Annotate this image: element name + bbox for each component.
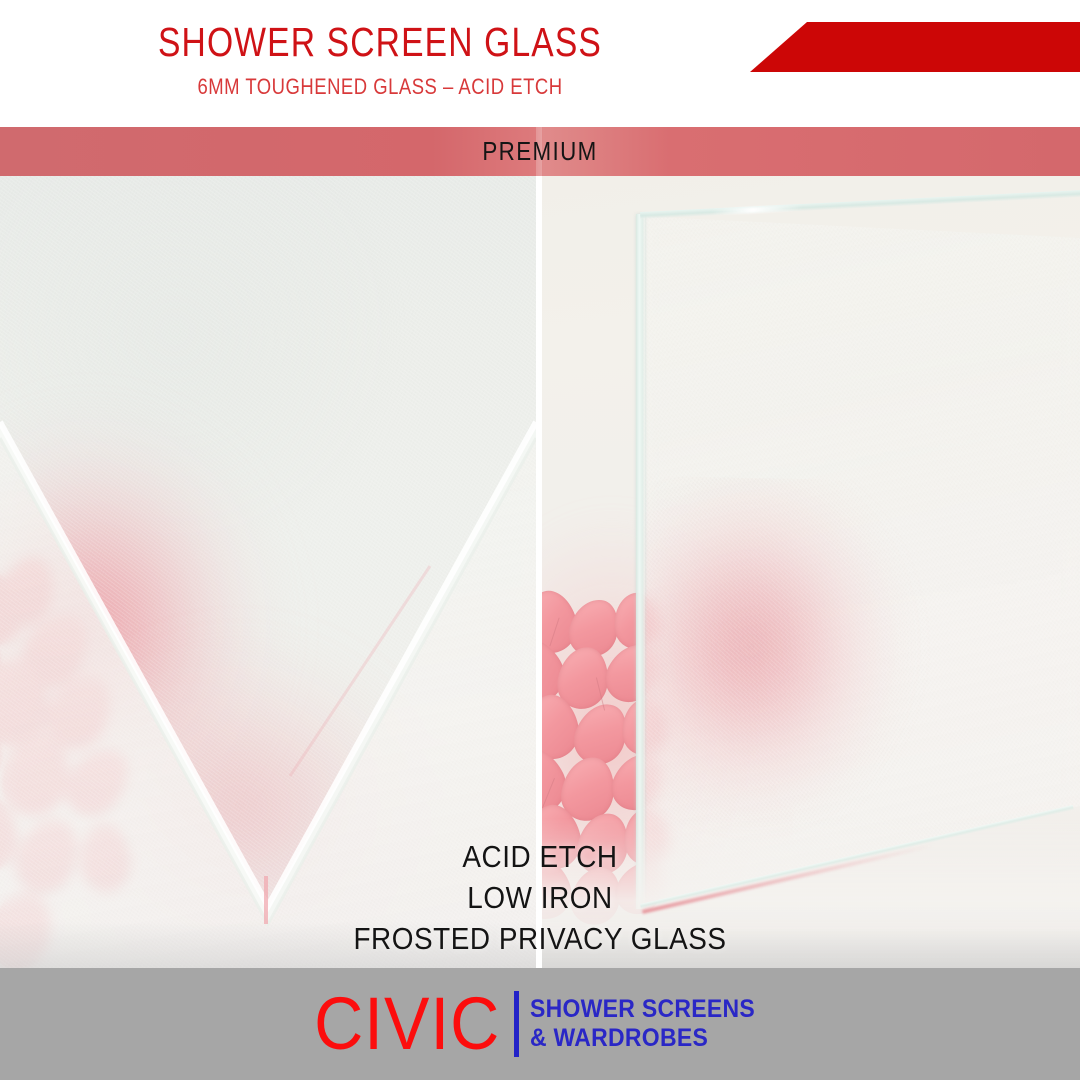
premium-label: PREMIUM — [76, 127, 1005, 176]
page-subtitle: 6MM TOUGHENED GLASS – ACID ETCH — [61, 74, 699, 100]
premium-banner: PREMIUM — [0, 127, 1080, 176]
red-ribbon-accent — [750, 22, 1080, 72]
brand-logo[interactable]: CIVIC SHOWER SCREENS & WARDROBES — [306, 987, 775, 1061]
page-title: SHOWER SCREEN GLASS — [68, 19, 691, 65]
brand-tagline: SHOWER SCREENS & WARDROBES — [530, 995, 755, 1053]
right-glass-top-edge — [640, 190, 1080, 219]
right-glass-top-highlight — [712, 205, 802, 215]
brand-name: CIVIC — [314, 987, 500, 1061]
caption-line-3: FROSTED PRIVACY GLASS — [54, 918, 1026, 959]
header-bar: SHOWER SCREEN GLASS 6MM TOUGHENED GLASS … — [0, 0, 1080, 127]
feature-caption: ACID ETCH LOW IRON FROSTED PRIVACY GLASS — [0, 836, 1080, 959]
caption-line-1: ACID ETCH — [54, 836, 1026, 877]
brand-tagline-line1: SHOWER SCREENS — [530, 995, 755, 1023]
brand-tagline-line2: & WARDROBES — [530, 1024, 708, 1052]
caption-line-2: LOW IRON — [54, 877, 1026, 918]
poster-canvas: SHOWER SCREEN GLASS 6MM TOUGHENED GLASS … — [0, 0, 1080, 1080]
right-etch-texture — [640, 216, 1080, 906]
product-photo-stage: ACID ETCH LOW IRON FROSTED PRIVACY GLASS — [0, 176, 1080, 968]
right-glass-left-edge — [636, 214, 645, 909]
logo-divider-bar — [514, 991, 519, 1057]
footer-bar: CIVIC SHOWER SCREENS & WARDROBES — [0, 968, 1080, 1080]
